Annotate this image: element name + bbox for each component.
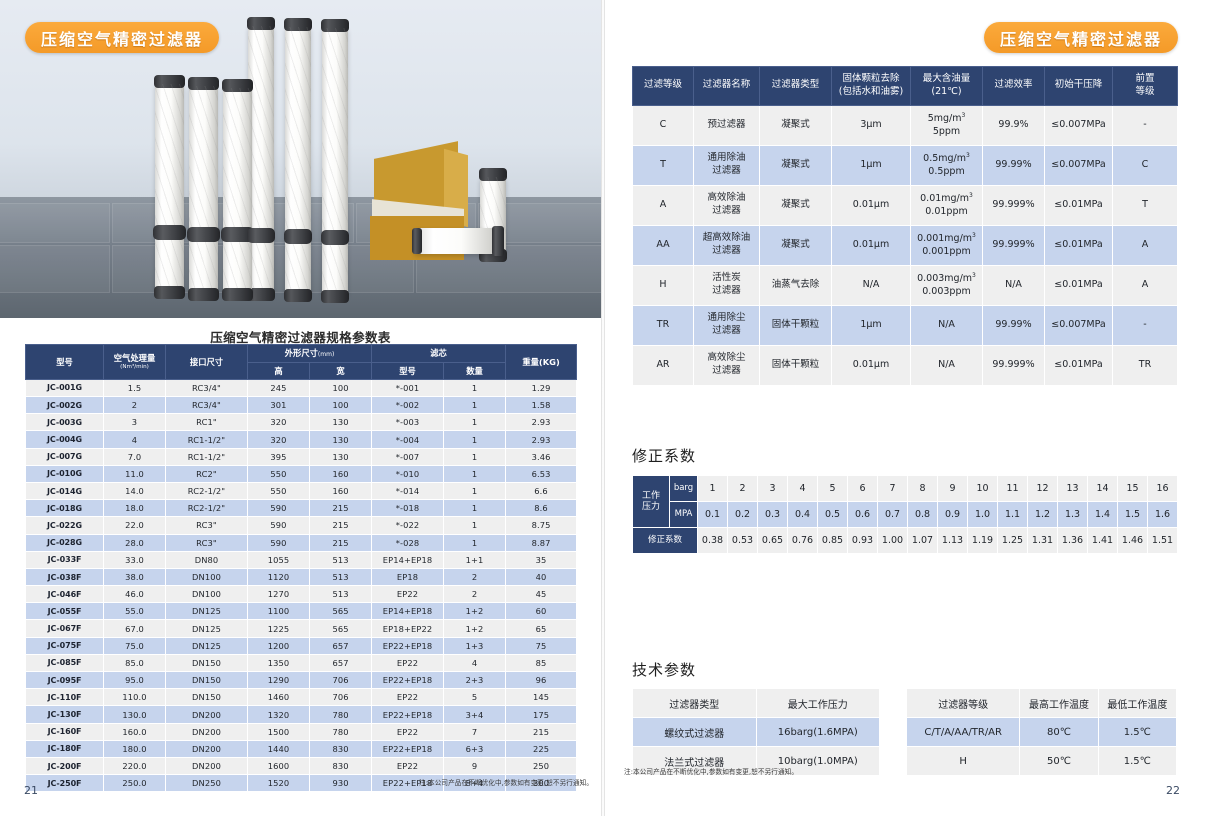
- spec-cell: EP22: [372, 689, 444, 706]
- spec-cell: 225: [506, 740, 577, 757]
- grade-cell-particle: 3μm: [832, 105, 911, 145]
- spec-cell: 301: [248, 397, 310, 414]
- spec-cell: EP22: [372, 723, 444, 740]
- spec-cell: 1520: [248, 775, 310, 792]
- tech-header-cell: 过滤器类型: [633, 689, 757, 718]
- tech-header-cell: 过滤器等级: [907, 689, 1020, 718]
- temperature-row: H50℃1.5℃: [907, 747, 1177, 776]
- coef-cell-mpa: 1.1: [998, 502, 1028, 528]
- coef-cell-barg: 10: [968, 476, 998, 502]
- grade-cell-level: TR: [633, 305, 694, 345]
- coef-cell-mpa: 0.8: [908, 502, 938, 528]
- spec-cell-model: JC-110F: [26, 689, 104, 706]
- spec-cell: 215: [506, 723, 577, 740]
- spec-cell: RC1-1/2": [166, 448, 248, 465]
- coef-cell-mpa: 0.9: [938, 502, 968, 528]
- grade-table-row: H活性炭过滤器油蒸气去除N/A0.003mg/m30.003ppmN/A≤0.0…: [633, 265, 1178, 305]
- spec-cell: 85.0: [104, 654, 166, 671]
- spec-cell: 11.0: [104, 465, 166, 482]
- grade-cell-oil: 0.5mg/m30.5ppm: [911, 145, 983, 185]
- spec-cell: 1460: [248, 689, 310, 706]
- coef-cell-mpa: 1.3: [1058, 502, 1088, 528]
- grade-table-header-cell: 过滤效率: [983, 67, 1045, 106]
- spec-table-row: JC-028G28.0RC3"590215*-02818.87: [26, 534, 577, 551]
- spec-table-row: JC-033F33.0DN801055513EP14+EP181+135: [26, 551, 577, 568]
- spec-cell: 130: [310, 448, 372, 465]
- spec-cell: DN200: [166, 723, 248, 740]
- spec-cell: *-018: [372, 500, 444, 517]
- page-number-left: 21: [24, 784, 38, 797]
- coef-cell-factor: 1.13: [938, 528, 968, 554]
- spec-cell: *-022: [372, 517, 444, 534]
- grade-cell-particle: N/A: [832, 265, 911, 305]
- tech-cell: H: [907, 747, 1020, 776]
- filter-cartridge-collar: [286, 229, 310, 241]
- spec-cell: 3.46: [506, 448, 577, 465]
- spec-cell: 3: [104, 414, 166, 431]
- pressure-row: 螺纹式过滤器16barg(1.6MPA): [633, 718, 880, 747]
- tech-cell: 50℃: [1020, 747, 1098, 776]
- spec-table-row: JC-067F67.0DN1251225565EP18+EP221+265: [26, 620, 577, 637]
- spec-cell: 1290: [248, 672, 310, 689]
- grade-table-header-cell: 前置等级: [1113, 67, 1178, 106]
- spec-cell: *-028: [372, 534, 444, 551]
- spec-cell: 8.87: [506, 534, 577, 551]
- spec-cell: RC3": [166, 517, 248, 534]
- grade-cell-efficiency: 99.99%: [983, 145, 1045, 185]
- spec-cell: 130.0: [104, 706, 166, 723]
- th-element-group: 滤芯: [372, 345, 506, 363]
- coef-cell-mpa: 1.2: [1028, 502, 1058, 528]
- coef-cell-mpa: 0.6: [848, 502, 878, 528]
- spec-cell: 930: [310, 775, 372, 792]
- th-airflow-unit: (Nm³/min): [105, 364, 164, 371]
- spec-cell: 40: [506, 568, 577, 585]
- spec-cell: 1: [444, 431, 506, 448]
- footnote-right: 注:本公司产品在不断优化中,参数如有变更,恕不另行通知。: [624, 766, 798, 776]
- spec-cell: 38.0: [104, 568, 166, 585]
- coef-cell-factor: 0.53: [728, 528, 758, 554]
- spec-cell: DN100: [166, 586, 248, 603]
- grade-table-row: AR高效除尘过滤器固体干颗粒0.01μmN/A99.999%≤0.01MPaTR: [633, 345, 1178, 385]
- coef-cell-mpa: 0.1: [698, 502, 728, 528]
- spec-cell: RC3/4": [166, 379, 248, 396]
- spec-cell: 160: [310, 465, 372, 482]
- spec-cell: 1270: [248, 586, 310, 603]
- spec-cell: 1200: [248, 637, 310, 654]
- grade-cell-oil: 0.01mg/m30.01ppm: [911, 185, 983, 225]
- spec-cell-model: JC-160F: [26, 723, 104, 740]
- spec-cell: 590: [248, 534, 310, 551]
- spec-cell: 590: [248, 517, 310, 534]
- spec-table-header-row-1: 型号 空气处理量 (Nm³/min) 接口尺寸 外形尺寸(mm) 滤芯 重量(K…: [26, 345, 577, 363]
- footnote-left: 注:本公司产品在不断优化中,参数如有变更,恕不另行通知。: [419, 777, 593, 787]
- coef-cell-barg: 3: [758, 476, 788, 502]
- tech-cell: 1.5℃: [1098, 747, 1176, 776]
- coef-cell-factor: 0.93: [848, 528, 878, 554]
- grade-cell-name: 通用除尘过滤器: [694, 305, 760, 345]
- filter-cartridge-collar: [323, 230, 347, 242]
- spec-cell: 1.5: [104, 379, 166, 396]
- grade-table-header-cell: 最大含油量(21℃): [911, 67, 983, 106]
- grade-cell-pressure-drop: ≤0.01MPa: [1045, 265, 1113, 305]
- grade-cell-efficiency: 99.99%: [983, 305, 1045, 345]
- filter-cartridge: [223, 88, 252, 294]
- spec-cell: DN150: [166, 654, 248, 671]
- max-working-pressure-table: 过滤器类型最大工作压力螺纹式过滤器16barg(1.6MPA)法兰式过滤器10b…: [632, 688, 880, 776]
- grade-table-row: AA超高效除油过滤器凝聚式0.01μm0.001mg/m30.001ppm99.…: [633, 225, 1178, 265]
- spec-cell: 1: [444, 500, 506, 517]
- spec-cell: 395: [248, 448, 310, 465]
- correction-coefficient-table: 工作压力 barg 12345678910111213141516 MPA 0.…: [632, 475, 1178, 554]
- coef-cell-barg: 1: [698, 476, 728, 502]
- spec-cell: 7: [444, 723, 506, 740]
- spec-table-row: JC-022G22.0RC3"590215*-02218.75: [26, 517, 577, 534]
- spec-cell: 175: [506, 706, 577, 723]
- th-airflow-label: 空气处理量: [114, 353, 156, 363]
- coef-cell-factor: 1.51: [1148, 528, 1178, 554]
- spec-table: 型号 空气处理量 (Nm³/min) 接口尺寸 外形尺寸(mm) 滤芯 重量(K…: [25, 344, 577, 792]
- coef-cell-barg: 16: [1148, 476, 1178, 502]
- spec-cell: 8.75: [506, 517, 577, 534]
- spec-cell: 657: [310, 637, 372, 654]
- spec-cell: DN150: [166, 689, 248, 706]
- coef-cell-mpa: 1.0: [968, 502, 998, 528]
- spec-cell: 6+3: [444, 740, 506, 757]
- product-photo: 压缩空气精密过滤器: [0, 0, 601, 318]
- spec-cell: 67.0: [104, 620, 166, 637]
- spec-cell-model: JC-002G: [26, 397, 104, 414]
- spec-cell: 1+1: [444, 551, 506, 568]
- spec-cell: RC1-1/2": [166, 431, 248, 448]
- spec-cell: 320: [248, 414, 310, 431]
- grade-cell-efficiency: N/A: [983, 265, 1045, 305]
- th-dimension-group: 外形尺寸(mm): [248, 345, 372, 363]
- coef-cell-factor: 1.41: [1088, 528, 1118, 554]
- spec-cell: 1350: [248, 654, 310, 671]
- working-temperature-table: 过滤器等级最高工作温度最低工作温度C/T/A/AA/TR/AR80℃1.5℃H5…: [906, 688, 1177, 776]
- spec-table-row: JC-095F95.0DN1501290706EP22+EP182+396: [26, 672, 577, 689]
- spec-cell: 2: [104, 397, 166, 414]
- coef-cell-mpa: 1.4: [1088, 502, 1118, 528]
- spec-cell: 60: [506, 603, 577, 620]
- spec-cell: DN125: [166, 603, 248, 620]
- spec-cell: 14.0: [104, 482, 166, 499]
- spec-cell: DN200: [166, 740, 248, 757]
- spec-cell-model: JC-001G: [26, 379, 104, 396]
- spec-table-row: JC-055F55.0DN1251100565EP14+EP181+260: [26, 603, 577, 620]
- th-airflow: 空气处理量 (Nm³/min): [104, 345, 166, 380]
- spec-cell: 18.0: [104, 500, 166, 517]
- spec-cell-model: JC-028G: [26, 534, 104, 551]
- spec-cell: 75.0: [104, 637, 166, 654]
- spec-cell: RC1": [166, 414, 248, 431]
- spec-cell-model: JC-038F: [26, 568, 104, 585]
- coef-cell-barg: 12: [1028, 476, 1058, 502]
- spec-cell: EP22: [372, 757, 444, 774]
- spec-cell: 1440: [248, 740, 310, 757]
- spec-cell: RC3": [166, 534, 248, 551]
- spec-cell: 1+2: [444, 603, 506, 620]
- left-page: 压缩空气精密过滤器 压缩空气精密过滤器规格参数表 型号 空气处理量 (Nm³/m…: [0, 0, 601, 816]
- temperature-row: C/T/A/AA/TR/AR80℃1.5℃: [907, 718, 1177, 747]
- grade-cell-type: 凝聚式: [760, 145, 832, 185]
- spec-cell: 706: [310, 672, 372, 689]
- spec-cell: 85: [506, 654, 577, 671]
- coef-cell-mpa: 0.7: [878, 502, 908, 528]
- grade-cell-efficiency: 99.999%: [983, 345, 1045, 385]
- coef-row-label-pressure: 工作压力: [633, 476, 670, 528]
- spec-cell: EP14+EP18: [372, 603, 444, 620]
- grade-cell-type: 固体干颗粒: [760, 345, 832, 385]
- spec-cell: 55.0: [104, 603, 166, 620]
- spec-cell: 33.0: [104, 551, 166, 568]
- spec-cell: 100: [310, 379, 372, 396]
- spec-cell: EP22: [372, 586, 444, 603]
- grade-cell-efficiency: 99.9%: [983, 105, 1045, 145]
- spec-cell: DN100: [166, 568, 248, 585]
- spec-cell: EP22+EP18: [372, 637, 444, 654]
- temperature-header-row: 过滤器等级最高工作温度最低工作温度: [907, 689, 1177, 718]
- spec-cell: 565: [310, 620, 372, 637]
- grade-table-header-cell: 过滤器类型: [760, 67, 832, 106]
- grade-cell-particle: 1μm: [832, 305, 911, 345]
- spec-cell: 160: [310, 482, 372, 499]
- filter-cartridge: [189, 86, 218, 294]
- coef-cell-factor: 0.76: [788, 528, 818, 554]
- grade-table-body: C预过滤器凝聚式3μm5mg/m35ppm99.9%≤0.007MPa-T通用除…: [633, 105, 1178, 385]
- coef-cell-mpa: 0.5: [818, 502, 848, 528]
- spec-cell-model: JC-004G: [26, 431, 104, 448]
- page-banner-title-right: 压缩空气精密过滤器: [984, 22, 1178, 53]
- spec-table-row: JC-075F75.0DN1251200657EP22+EP181+375: [26, 637, 577, 654]
- grade-table-row: TR通用除尘过滤器固体干颗粒1μmN/A99.99%≤0.007MPa-: [633, 305, 1178, 345]
- tech-cell: 螺纹式过滤器: [633, 718, 757, 747]
- filter-cartridge: [322, 28, 348, 296]
- spec-cell: EP22+EP18: [372, 706, 444, 723]
- spec-cell: 706: [310, 689, 372, 706]
- spec-cell: 45: [506, 586, 577, 603]
- grade-cell-particle: 0.01μm: [832, 225, 911, 265]
- spec-cell: 1.58: [506, 397, 577, 414]
- spec-cell: 250.0: [104, 775, 166, 792]
- coef-cell-factor: 1.19: [968, 528, 998, 554]
- spec-cell: 2.93: [506, 414, 577, 431]
- spec-cell: *-010: [372, 465, 444, 482]
- spec-cell-model: JC-033F: [26, 551, 104, 568]
- spec-cell: 513: [310, 568, 372, 585]
- spec-cell: 1055: [248, 551, 310, 568]
- grade-cell-pre-grade: A: [1113, 225, 1178, 265]
- filter-cartridge-lying: [414, 228, 500, 254]
- spec-cell: 1500: [248, 723, 310, 740]
- spec-cell: 1: [444, 414, 506, 431]
- spec-cell: RC2": [166, 465, 248, 482]
- coef-cell-barg: 6: [848, 476, 878, 502]
- spec-cell: 1+3: [444, 637, 506, 654]
- coef-cell-factor: 0.38: [698, 528, 728, 554]
- coef-cell-factor: 1.31: [1028, 528, 1058, 554]
- filter-grade-table: 过滤等级过滤器名称过滤器类型固体颗粒去除(包括水和油雾)最大含油量(21℃)过滤…: [632, 66, 1178, 386]
- coef-cell-factor: 1.00: [878, 528, 908, 554]
- spec-cell: 35: [506, 551, 577, 568]
- th-model: 型号: [26, 345, 104, 380]
- spec-cell: 6.6: [506, 482, 577, 499]
- spec-cell: EP14+EP18: [372, 551, 444, 568]
- spec-cell: 1: [444, 534, 506, 551]
- spec-cell: 1: [444, 482, 506, 499]
- spec-cell: DN80: [166, 551, 248, 568]
- spec-cell: 220.0: [104, 757, 166, 774]
- spec-cell-model: JC-007G: [26, 448, 104, 465]
- spec-cell-model: JC-010G: [26, 465, 104, 482]
- spec-cell: 565: [310, 603, 372, 620]
- spec-table-row: JC-046F46.0DN1001270513EP22245: [26, 586, 577, 603]
- grade-table-row: A高效除油过滤器凝聚式0.01μm0.01mg/m30.01ppm99.999%…: [633, 185, 1178, 225]
- spec-cell: 1: [444, 397, 506, 414]
- spec-cell: 590: [248, 500, 310, 517]
- coef-cell-mpa: 1.6: [1148, 502, 1178, 528]
- grade-cell-pressure-drop: ≤0.01MPa: [1045, 345, 1113, 385]
- spec-cell: DN200: [166, 757, 248, 774]
- spec-cell-model: JC-180F: [26, 740, 104, 757]
- grade-cell-oil: N/A: [911, 345, 983, 385]
- coef-cell-barg: 8: [908, 476, 938, 502]
- spec-cell: 2.93: [506, 431, 577, 448]
- filter-cartridge: [285, 27, 311, 295]
- spec-cell: 657: [310, 654, 372, 671]
- spec-cell: RC3/4": [166, 397, 248, 414]
- coef-cell-barg: 14: [1088, 476, 1118, 502]
- grade-cell-oil: N/A: [911, 305, 983, 345]
- grade-cell-efficiency: 99.999%: [983, 185, 1045, 225]
- spec-table-row: JC-038F38.0DN1001120513EP18240: [26, 568, 577, 585]
- catalog-spread: 压缩空气精密过滤器 压缩空气精密过滤器规格参数表 型号 空气处理量 (Nm³/m…: [0, 0, 1206, 816]
- th-weight: 重量(KG): [506, 345, 577, 380]
- spec-cell: RC2-1/2": [166, 482, 248, 499]
- spec-cell: 830: [310, 757, 372, 774]
- spec-cell: 513: [310, 551, 372, 568]
- page-banner-title-left: 压缩空气精密过滤器: [25, 22, 219, 53]
- spec-cell-model: JC-085F: [26, 654, 104, 671]
- spec-cell: 22.0: [104, 517, 166, 534]
- spec-table-row: JC-004G4RC1-1/2"320130*-00412.93: [26, 431, 577, 448]
- grade-cell-pre-grade: -: [1113, 305, 1178, 345]
- spec-cell: 65: [506, 620, 577, 637]
- grade-cell-name: 通用除油过滤器: [694, 145, 760, 185]
- spec-cell: 1225: [248, 620, 310, 637]
- spec-table-row: JC-014G14.0RC2-1/2"550160*-01416.6: [26, 482, 577, 499]
- spec-cell: 513: [310, 586, 372, 603]
- spec-cell: 215: [310, 500, 372, 517]
- spec-cell: DN125: [166, 620, 248, 637]
- spec-table-row: JC-180F180.0DN2001440830EP22+EP186+3225: [26, 740, 577, 757]
- spec-cell: 8.6: [506, 500, 577, 517]
- section-heading-technical: 技术参数: [632, 659, 696, 680]
- coef-cell-barg: 2: [728, 476, 758, 502]
- coef-cell-factor: 1.25: [998, 528, 1028, 554]
- spec-table-row: JC-001G1.5RC3/4"245100*-00111.29: [26, 379, 577, 396]
- spec-cell: 160.0: [104, 723, 166, 740]
- coef-cell-barg: 15: [1118, 476, 1148, 502]
- spec-cell: 1: [444, 448, 506, 465]
- grade-cell-particle: 0.01μm: [832, 185, 911, 225]
- spec-cell: 145: [506, 689, 577, 706]
- spec-cell: 4: [104, 431, 166, 448]
- spec-cell: 130: [310, 431, 372, 448]
- grade-cell-type: 油蒸气去除: [760, 265, 832, 305]
- spec-table-row: JC-160F160.0DN2001500780EP227215: [26, 723, 577, 740]
- spec-cell: 1600: [248, 757, 310, 774]
- temperature-table-body: 过滤器等级最高工作温度最低工作温度C/T/A/AA/TR/AR80℃1.5℃H5…: [907, 689, 1177, 776]
- spec-cell-model: JC-095F: [26, 672, 104, 689]
- coef-cell-factor: 0.85: [818, 528, 848, 554]
- grade-cell-pre-grade: T: [1113, 185, 1178, 225]
- spec-table-row: JC-018G18.0RC2-1/2"590215*-01818.6: [26, 500, 577, 517]
- spec-cell: 1: [444, 379, 506, 396]
- spec-cell: 320: [248, 431, 310, 448]
- spec-cell: 2: [444, 586, 506, 603]
- tech-header-cell: 最高工作温度: [1020, 689, 1098, 718]
- th-element-qty: 数量: [444, 362, 506, 379]
- spec-cell: 75: [506, 637, 577, 654]
- coef-row-factor: 修正系数 0.380.530.650.760.850.931.001.071.1…: [633, 528, 1178, 554]
- grade-table-row: C预过滤器凝聚式3μm5mg/m35ppm99.9%≤0.007MPa-: [633, 105, 1178, 145]
- grade-cell-level: T: [633, 145, 694, 185]
- spec-table-row: JC-007G7.0RC1-1/2"395130*-00713.46: [26, 448, 577, 465]
- spec-cell: 830: [310, 740, 372, 757]
- filter-cartridge: [155, 84, 184, 292]
- spec-cell-model: JC-055F: [26, 603, 104, 620]
- grade-cell-pre-grade: C: [1113, 145, 1178, 185]
- pressure-header-row: 过滤器类型最大工作压力: [633, 689, 880, 718]
- spec-cell: EP22: [372, 654, 444, 671]
- spec-table-row: JC-003G3RC1"320130*-00312.93: [26, 414, 577, 431]
- coef-cell-barg: 7: [878, 476, 908, 502]
- th-element-model: 型号: [372, 362, 444, 379]
- spec-cell: 245: [248, 379, 310, 396]
- spec-cell-model: JC-014G: [26, 482, 104, 499]
- spec-cell: DN150: [166, 672, 248, 689]
- spec-cell-model: JC-046F: [26, 586, 104, 603]
- spec-cell: 100: [310, 397, 372, 414]
- coef-cell-factor: 1.46: [1118, 528, 1148, 554]
- grade-cell-oil: 0.003mg/m30.003ppm: [911, 265, 983, 305]
- grade-cell-oil: 0.001mg/m30.001ppm: [911, 225, 983, 265]
- grade-cell-name: 预过滤器: [694, 105, 760, 145]
- spec-cell: 95.0: [104, 672, 166, 689]
- th-width: 宽: [310, 362, 372, 379]
- spec-cell: *-014: [372, 482, 444, 499]
- th-dimension-label: 外形尺寸: [285, 348, 318, 358]
- grade-cell-pressure-drop: ≤0.01MPa: [1045, 225, 1113, 265]
- grade-cell-pre-grade: A: [1113, 265, 1178, 305]
- spec-cell: 1: [444, 517, 506, 534]
- spec-cell-model: JC-003G: [26, 414, 104, 431]
- spec-cell: 96: [506, 672, 577, 689]
- tech-cell: C/T/A/AA/TR/AR: [907, 718, 1020, 747]
- grade-cell-efficiency: 99.999%: [983, 225, 1045, 265]
- spec-cell: 1+2: [444, 620, 506, 637]
- grade-cell-name: 高效除尘过滤器: [694, 345, 760, 385]
- spec-cell: *-001: [372, 379, 444, 396]
- grade-cell-oil: 5mg/m35ppm: [911, 105, 983, 145]
- grade-table-header-cell: 过滤等级: [633, 67, 694, 106]
- grade-table-header-cell: 过滤器名称: [694, 67, 760, 106]
- coef-cell-mpa: 0.4: [788, 502, 818, 528]
- spec-cell: 215: [310, 534, 372, 551]
- spec-cell: 250: [506, 757, 577, 774]
